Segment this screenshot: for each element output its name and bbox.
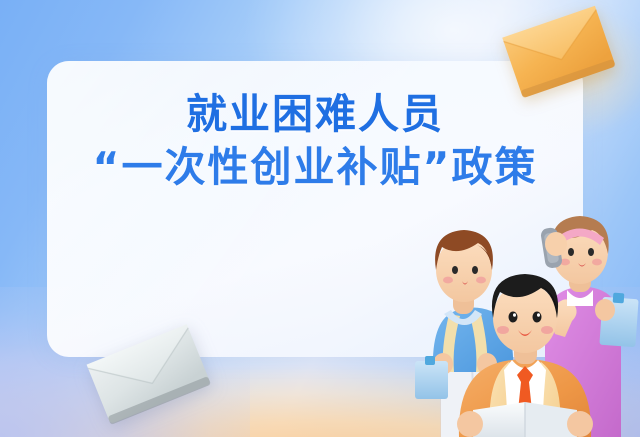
poster-root: 就业困难人员 “一次性创业补贴”政策	[0, 0, 640, 437]
page-title: 就业困难人员 “一次性创业补贴”政策	[47, 94, 583, 189]
title-line-1: 就业困难人员	[47, 94, 583, 136]
title-line-2: “一次性创业补贴”政策	[47, 147, 583, 189]
character-group	[415, 210, 640, 437]
id-badge-icon	[415, 356, 448, 399]
